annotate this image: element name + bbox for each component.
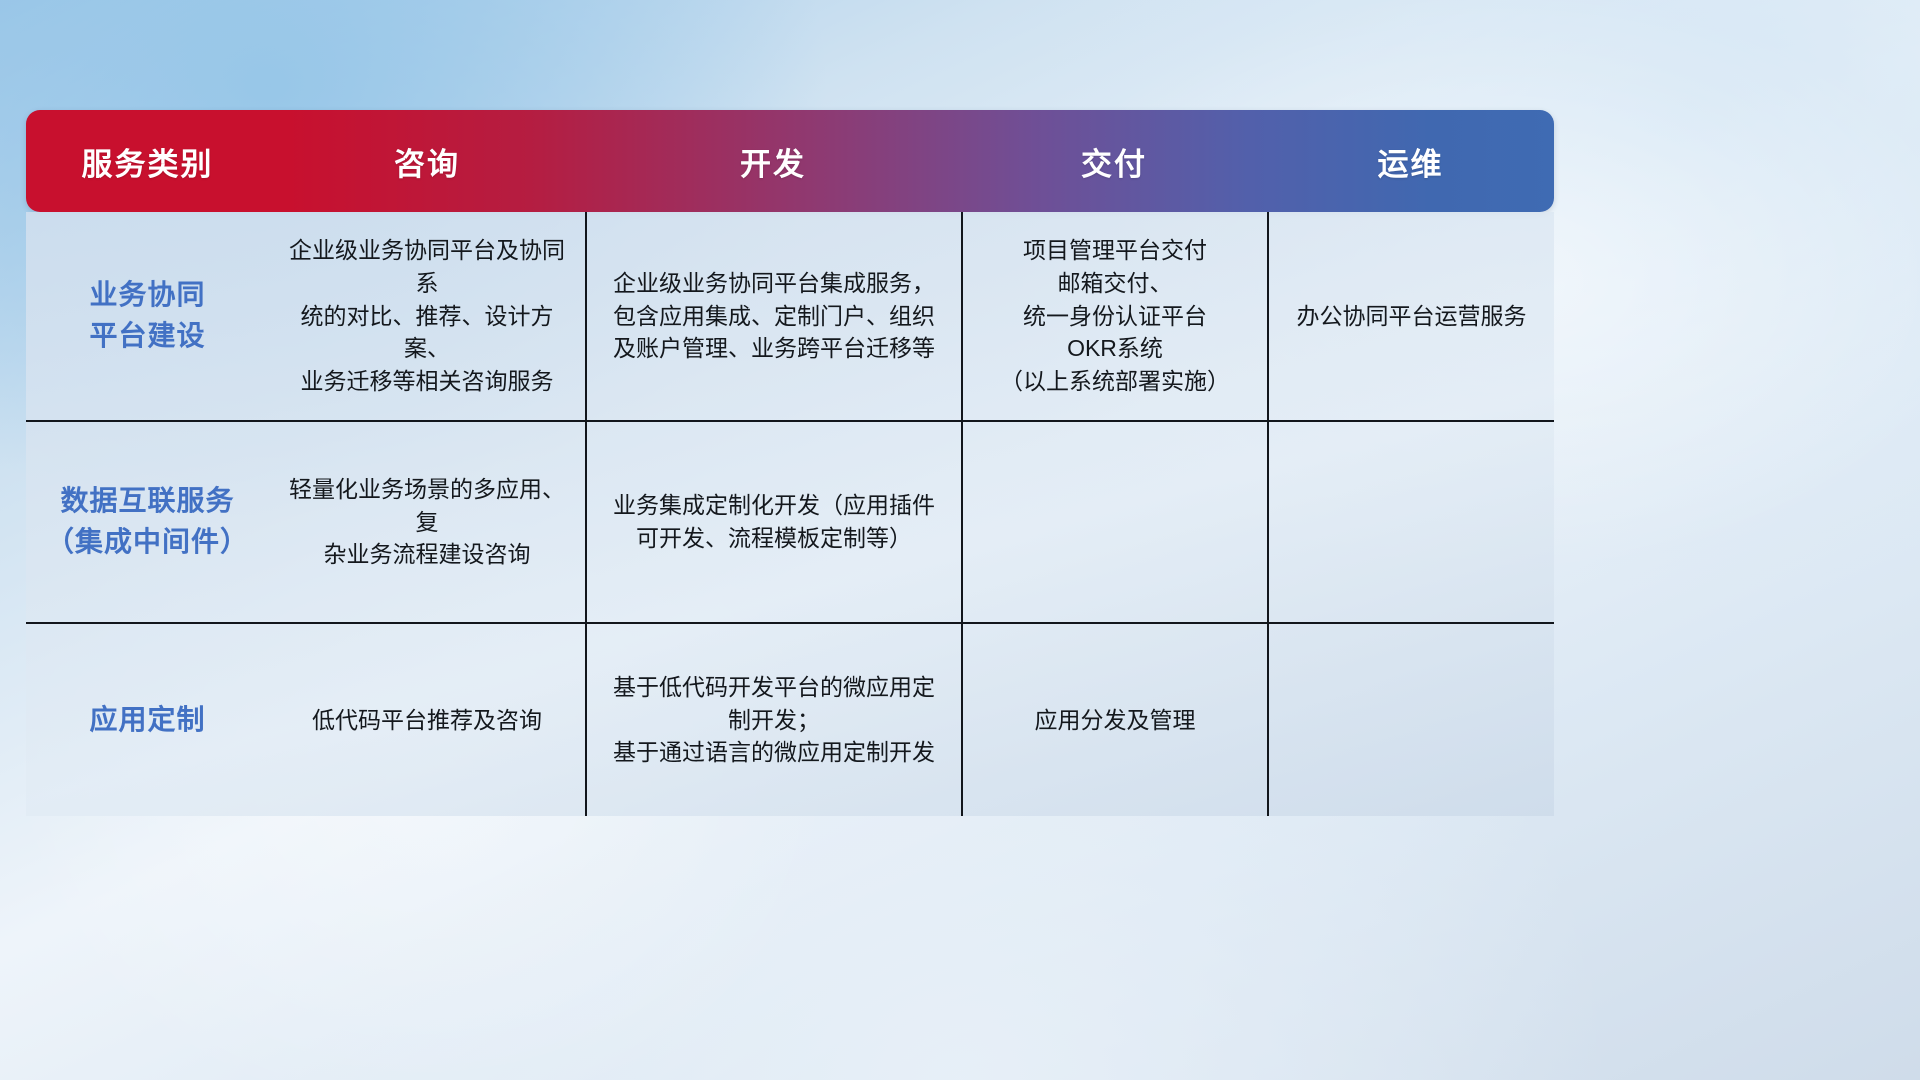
- column-header-operations: 运维: [1267, 110, 1554, 212]
- cell-development: 基于低代码开发平台的微应用定 制开发； 基于通过语言的微应用定制开发: [585, 624, 961, 816]
- table-row: 业务协同 平台建设 企业级业务协同平台及协同系 统的对比、推荐、设计方案、 业务…: [26, 212, 1554, 420]
- cell-consulting: 低代码平台推荐及咨询: [269, 624, 585, 816]
- cell-delivery: 应用分发及管理: [961, 624, 1267, 816]
- table-row: 应用定制 低代码平台推荐及咨询 基于低代码开发平台的微应用定 制开发； 基于通过…: [26, 622, 1554, 816]
- column-header-label: 交付: [1081, 139, 1147, 184]
- row-category-label: 数据互联服务 （集成中间件）: [26, 422, 269, 622]
- column-header-consulting: 咨询: [269, 110, 585, 212]
- column-header-label: 服务类别: [82, 139, 214, 184]
- table-body: 业务协同 平台建设 企业级业务协同平台及协同系 统的对比、推荐、设计方案、 业务…: [26, 212, 1554, 816]
- column-header-label: 开发: [740, 139, 806, 184]
- table-row: 数据互联服务 （集成中间件） 轻量化业务场景的多应用、复 杂业务流程建设咨询 业…: [26, 420, 1554, 622]
- service-matrix-table: 服务类别 咨询 开发 交付 运维 业务协同 平台建设 企业级业务协同平台及协同系…: [26, 110, 1554, 776]
- column-header-label: 运维: [1378, 139, 1444, 184]
- row-category-label: 应用定制: [26, 624, 269, 816]
- cell-operations: [1267, 624, 1554, 816]
- cell-development: 企业级业务协同平台集成服务， 包含应用集成、定制门户、组织 及账户管理、业务跨平…: [585, 212, 961, 420]
- cell-operations: 办公协同平台运营服务: [1267, 212, 1554, 420]
- table-header-row: 服务类别 咨询 开发 交付 运维: [26, 110, 1554, 212]
- column-header-service-category: 服务类别: [26, 110, 269, 212]
- column-header-label: 咨询: [394, 139, 460, 184]
- column-header-delivery: 交付: [961, 110, 1267, 212]
- column-header-development: 开发: [585, 110, 961, 212]
- cell-delivery: [961, 422, 1267, 622]
- cell-operations: [1267, 422, 1554, 622]
- cell-delivery: 项目管理平台交付 邮箱交付、 统一身份认证平台 OKR系统 （以上系统部署实施）: [961, 212, 1267, 420]
- cell-consulting: 轻量化业务场景的多应用、复 杂业务流程建设咨询: [269, 422, 585, 622]
- cell-consulting: 企业级业务协同平台及协同系 统的对比、推荐、设计方案、 业务迁移等相关咨询服务: [269, 212, 585, 420]
- row-category-label: 业务协同 平台建设: [26, 212, 269, 420]
- cell-development: 业务集成定制化开发（应用插件 可开发、流程模板定制等）: [585, 422, 961, 622]
